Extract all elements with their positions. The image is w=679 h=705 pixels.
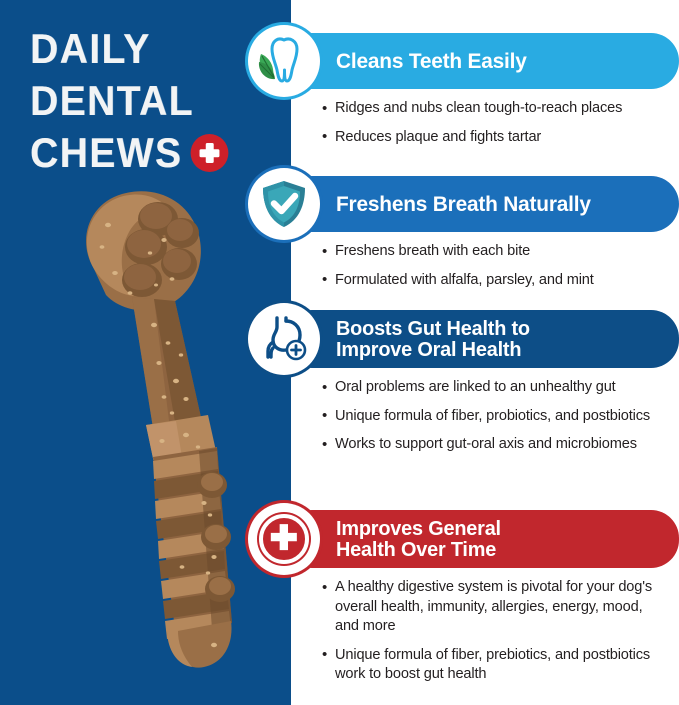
title-line-chews: CHEWS bbox=[30, 132, 182, 174]
bullet-item: Works to support gut-oral axis and micro… bbox=[322, 435, 663, 455]
title-line-dental: DENTAL bbox=[30, 80, 253, 122]
feature-card-title: Freshens Breath Naturally bbox=[336, 194, 591, 215]
bullet-item: Unique formula of fiber, prebiotics, and… bbox=[322, 646, 663, 685]
medical-cross-circle-icon bbox=[248, 503, 320, 575]
feature-card-title: Cleans Teeth Easily bbox=[336, 51, 527, 72]
feature-card-bullets: A healthy digestive system is pivotal fo… bbox=[248, 578, 679, 685]
dog-dental-chew-illustration bbox=[36, 185, 276, 690]
feature-card-bullets: Oral problems are linked to an unhealthy… bbox=[248, 378, 679, 455]
feature-card-bullets: Freshens breath with each bite Formulate… bbox=[248, 242, 679, 290]
tooth-mint-icon bbox=[248, 25, 320, 97]
medical-cross-icon bbox=[190, 134, 228, 172]
feature-card-title: Improves General Health Over Time bbox=[336, 518, 501, 560]
bullet-item: Formulated with alfalfa, parsley, and mi… bbox=[322, 271, 663, 291]
title-line-chews-row: CHEWS bbox=[30, 132, 253, 174]
feature-card-header: Cleans Teeth Easily bbox=[284, 33, 679, 89]
feature-card-bullets: Ridges and nubs clean tough-to-reach pla… bbox=[248, 99, 679, 147]
feature-card-cleans-teeth: Cleans Teeth Easily Ridges and nubs clea… bbox=[248, 33, 679, 156]
feature-cards-list: Cleans Teeth Easily Ridges and nubs clea… bbox=[248, 0, 679, 705]
shield-check-icon bbox=[248, 168, 320, 240]
feature-card-header: Boosts Gut Health to Improve Oral Health bbox=[284, 310, 679, 368]
page-title: DAILY DENTAL CHEWS bbox=[30, 28, 270, 184]
plus-badge bbox=[287, 341, 305, 359]
bullet-item: Unique formula of fiber, probiotics, and… bbox=[322, 407, 663, 427]
feature-card-boosts-gut-health: Boosts Gut Health to Improve Oral Health… bbox=[248, 310, 679, 464]
feature-card-header: Freshens Breath Naturally bbox=[284, 176, 679, 232]
feature-card-improves-general-health: Improves General Health Over Time A heal… bbox=[248, 510, 679, 694]
dental-chews-infographic: DAILY DENTAL CHEWS bbox=[0, 0, 679, 705]
feature-card-title: Boosts Gut Health to Improve Oral Health bbox=[336, 318, 530, 360]
feature-card-freshens-breath: Freshens Breath Naturally Freshens breat… bbox=[248, 176, 679, 299]
chew-head bbox=[86, 191, 201, 310]
feature-card-header: Improves General Health Over Time bbox=[284, 510, 679, 568]
chew-shaft bbox=[132, 297, 202, 434]
title-line-daily: DAILY bbox=[30, 28, 253, 70]
bullet-item: Ridges and nubs clean tough-to-reach pla… bbox=[322, 99, 663, 119]
chew-ridged-body bbox=[153, 447, 235, 639]
stomach-plus-icon bbox=[248, 303, 320, 375]
bullet-item: Oral problems are linked to an unhealthy… bbox=[322, 378, 663, 398]
bullet-item: Reduces plaque and fights tartar bbox=[322, 128, 663, 148]
bullet-item: Freshens breath with each bite bbox=[322, 242, 663, 262]
bullet-item: A healthy digestive system is pivotal fo… bbox=[322, 578, 663, 637]
tooth-shape bbox=[272, 39, 297, 81]
